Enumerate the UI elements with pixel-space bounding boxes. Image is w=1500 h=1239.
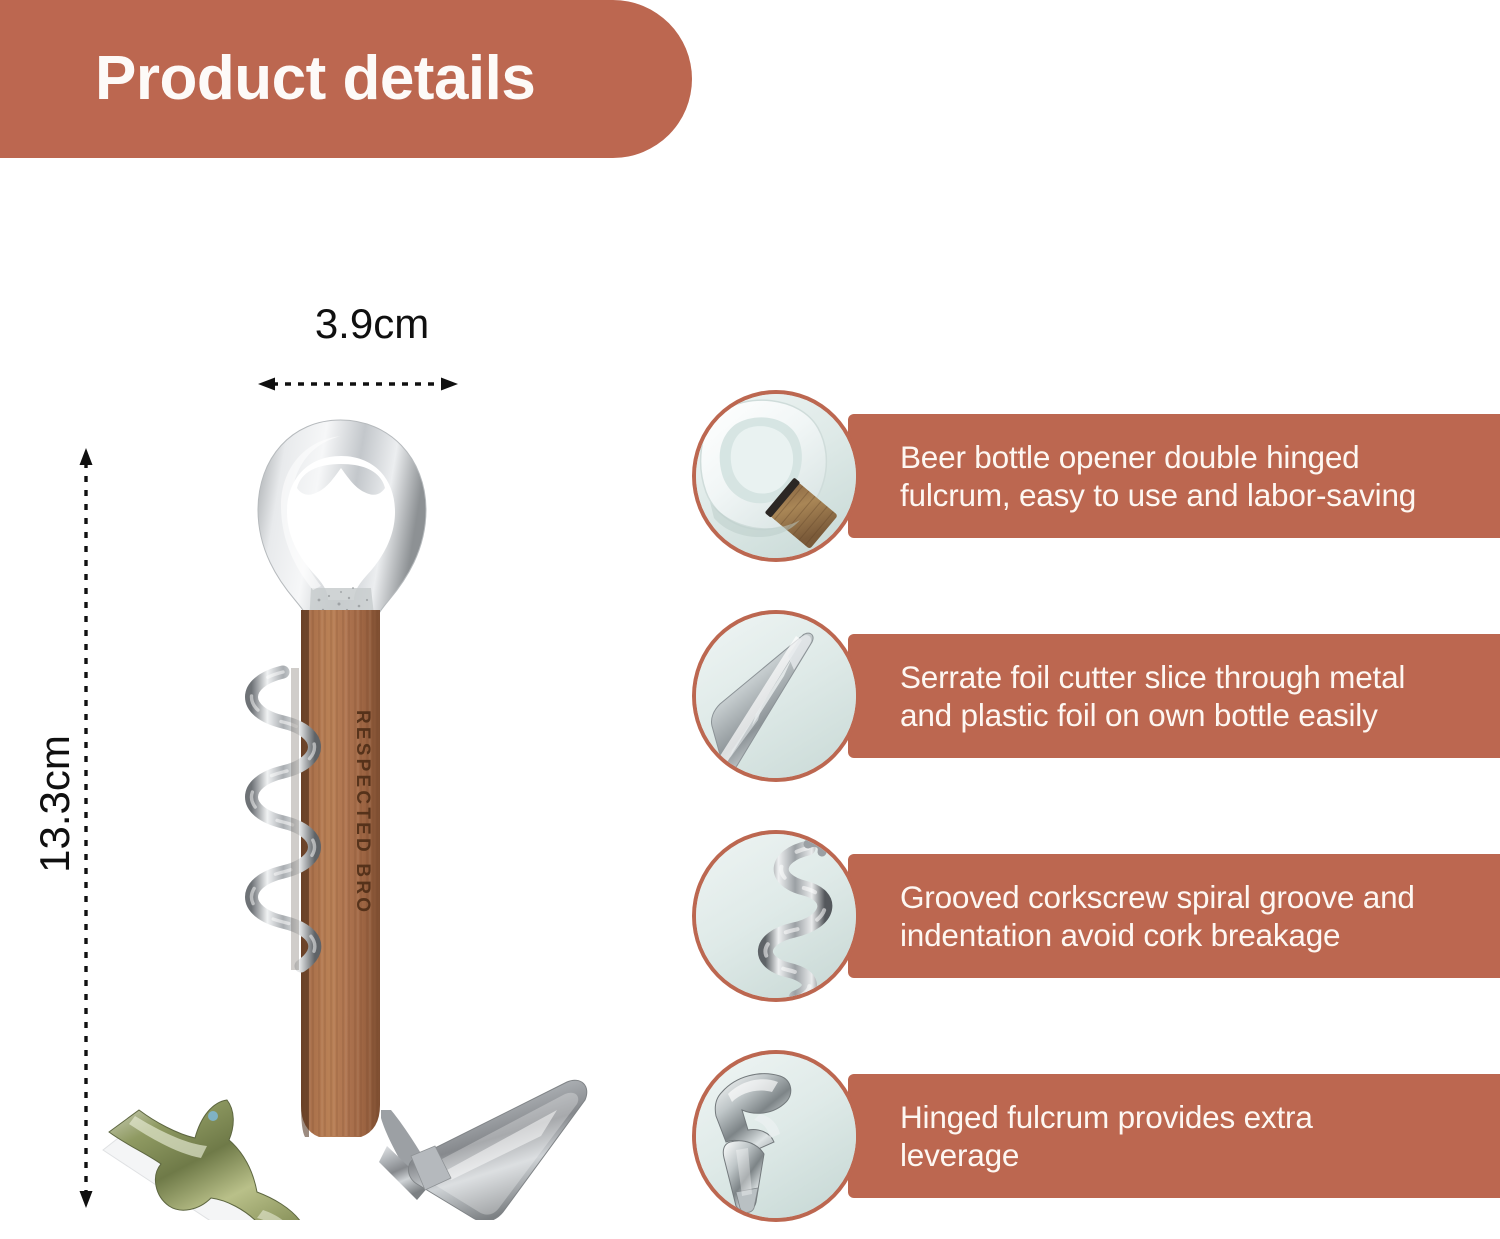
foil-cutter-blade — [379, 1080, 587, 1220]
feature-row[interactable]: Hinged fulcrum provides extra leverage — [688, 1048, 1500, 1224]
feature-text-line2: fulcrum, easy to use and labor-saving — [900, 477, 1416, 513]
page-title: Product details — [95, 48, 535, 110]
feature-row[interactable]: Grooved corkscrew spiral groove and inde… — [688, 828, 1500, 1004]
hinged-fulcrum-icon[interactable] — [692, 1050, 860, 1222]
feature-bar: Serrate foil cutter slice through metal … — [848, 634, 1500, 758]
hinged-fulcrum-arm — [103, 1100, 309, 1220]
height-dimension-arrow — [78, 448, 94, 1208]
feature-text: Grooved corkscrew spiral groove and inde… — [900, 878, 1415, 955]
feature-text-line1: Serrate foil cutter slice through metal — [900, 659, 1405, 695]
width-dimension-arrow — [258, 376, 458, 392]
feature-text-line2: leverage — [900, 1137, 1019, 1173]
feature-text-line1: Beer bottle opener double hinged — [900, 439, 1359, 475]
product-photo: RESPECTED BRO — [95, 410, 675, 1220]
feature-text: Beer bottle opener double hinged fulcrum… — [900, 438, 1416, 515]
product-image-panel: 3.9cm 13.3cm — [0, 180, 680, 1239]
feature-bar: Grooved corkscrew spiral groove and inde… — [848, 854, 1500, 978]
feature-text: Serrate foil cutter slice through metal … — [900, 658, 1405, 735]
height-dimension-label: 13.3cm — [31, 694, 79, 914]
width-dimension-label: 3.9cm — [262, 300, 482, 348]
handle-engraving: RESPECTED BRO — [352, 710, 373, 915]
header-banner: Product details — [0, 0, 692, 158]
feature-text-line1: Grooved corkscrew spiral groove and — [900, 879, 1415, 915]
corkscrew-icon[interactable] — [692, 830, 860, 1002]
feature-text-line2: indentation avoid cork breakage — [900, 917, 1340, 953]
feature-text: Hinged fulcrum provides extra leverage — [900, 1098, 1313, 1175]
feature-row[interactable]: Beer bottle opener double hinged fulcrum… — [688, 388, 1500, 564]
feature-bar: Hinged fulcrum provides extra leverage — [848, 1074, 1500, 1198]
feature-bar: Beer bottle opener double hinged fulcrum… — [848, 414, 1500, 538]
feature-row[interactable]: Serrate foil cutter slice through metal … — [688, 608, 1500, 784]
bottle-opener-icon[interactable] — [692, 390, 860, 562]
feature-text-line2: and plastic foil on own bottle easily — [900, 697, 1378, 733]
wooden-handle: RESPECTED BRO — [301, 606, 380, 1142]
foil-cutter-icon[interactable] — [692, 610, 860, 782]
bottle-opener-head — [258, 418, 426, 626]
feature-text-line1: Hinged fulcrum provides extra — [900, 1099, 1313, 1135]
